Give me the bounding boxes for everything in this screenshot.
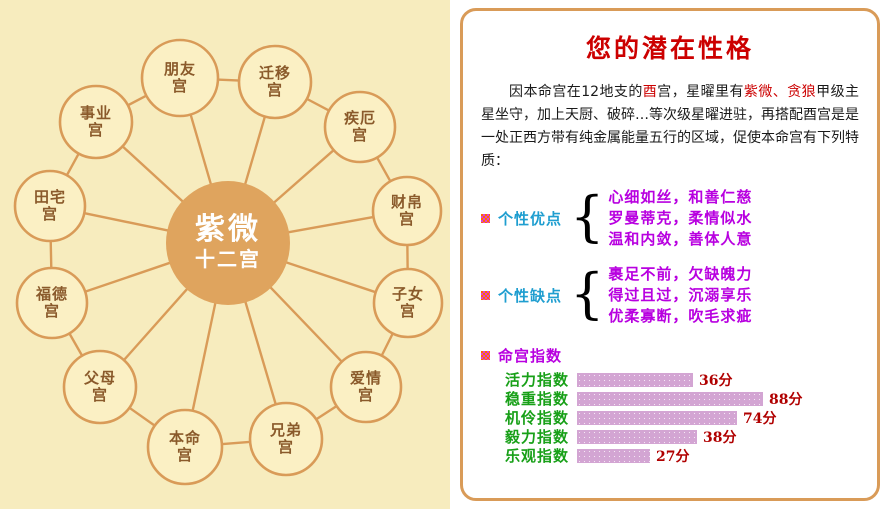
bar-row: 毅力指数38分	[485, 427, 877, 446]
bar-row: 乐观指数27分	[485, 446, 877, 465]
traits-section: 个性优点{心细如丝，和善仁慈罗曼蒂克，柔情似水温和内敛，善体人意个性缺点{裹足不…	[463, 187, 877, 327]
bar-value: 88分	[769, 389, 802, 409]
spoke-line-11	[190, 114, 211, 185]
rim-link-1	[377, 157, 391, 183]
spoke-line-6	[192, 303, 215, 412]
palace-circle-8[interactable]	[17, 268, 87, 338]
spoke-line-1	[274, 149, 335, 202]
bar-value: 36分	[699, 370, 732, 390]
spoke-line-0	[245, 116, 265, 185]
bar-label: 毅力指数	[485, 426, 577, 447]
palace-circle-6[interactable]	[148, 410, 222, 484]
square-bullet-icon	[481, 291, 490, 300]
trait-name-1: 个性缺点	[498, 285, 562, 306]
trait-name-0: 个性优点	[498, 208, 562, 229]
trait-line: 裹足不前，欠缺魄力	[608, 264, 752, 285]
trait-lines-0: 心细如丝，和善仁慈罗曼蒂克，柔情似水温和内敛，善体人意	[608, 187, 752, 250]
bar-row: 活力指数36分	[485, 370, 877, 389]
trait-line: 罗曼蒂克，柔情似水	[608, 208, 752, 229]
bar-row: 稳重指数88分	[485, 389, 877, 408]
square-bullet-icon	[481, 214, 490, 223]
bar-value: 74分	[743, 408, 776, 428]
bar-fill	[577, 373, 693, 387]
intro-part1: 因本命宫在12地支的	[509, 84, 643, 100]
bar-label: 活力指数	[485, 369, 577, 390]
spoke-line-4	[270, 287, 342, 362]
palace-circle-0[interactable]	[239, 46, 311, 118]
bar-value: 38分	[703, 427, 736, 447]
trait-block-1: 个性缺点{裹足不前，欠缺魄力得过且过，沉溺享乐优柔寡断，吹毛求疵	[481, 264, 877, 327]
spoke-line-5	[245, 301, 276, 405]
rim-link-6	[129, 407, 156, 426]
index-bar-chart: 活力指数36分稳重指数88分机伶指数74分毅力指数38分乐观指数27分	[485, 370, 877, 465]
bar-label: 稳重指数	[485, 388, 577, 409]
rim-link-11	[217, 80, 240, 81]
trait-line: 温和内敛，善体人意	[608, 229, 752, 250]
rim-link-8	[51, 240, 52, 269]
bar-fill	[577, 392, 763, 406]
rim-link-3	[381, 333, 393, 357]
index-chart-title: 命宫指数	[498, 345, 562, 366]
bar-fill	[577, 411, 737, 425]
bar-fill	[577, 430, 697, 444]
trait-line: 优柔寡断，吹毛求疵	[608, 306, 752, 327]
palace-circle-4[interactable]	[331, 352, 401, 422]
bar-fill	[577, 449, 650, 463]
palace-circle-5[interactable]	[250, 403, 322, 475]
trait-line: 心细如丝，和善仁慈	[608, 187, 752, 208]
potential-personality-report: 您的潜在性格 因本命宫在12地支的酉宫，星曜里有紫微、贪狼甲级主星坐守，加上天厨…	[460, 8, 880, 501]
rim-link-0	[306, 98, 330, 111]
spoke-line-7	[123, 289, 187, 361]
intro-highlight-branch: 酉	[643, 84, 657, 100]
zi-wei-twelve-palace-wheel: 紫微 十二宫 迁移宫疾厄宫财帛宫子女宫爱情宫兄弟宫本命宫父母宫福德宫田宅宫事业宫…	[0, 0, 450, 509]
palace-circle-3[interactable]	[374, 269, 442, 337]
bar-row: 机伶指数74分	[485, 408, 877, 427]
palace-circle-10[interactable]	[60, 86, 132, 158]
rim-link-10	[127, 95, 147, 106]
spoke-line-10	[122, 146, 183, 202]
trait-line: 得过且过，沉溺享乐	[608, 285, 752, 306]
palace-circle-1[interactable]	[325, 92, 395, 162]
bar-label: 乐观指数	[485, 445, 577, 466]
palace-circle-7[interactable]	[64, 351, 136, 423]
palace-circle-9[interactable]	[15, 171, 85, 241]
intro-highlight-stars: 紫微、贪狼	[744, 84, 816, 100]
trait-block-0: 个性优点{心细如丝，和善仁慈罗曼蒂克，柔情似水温和内敛，善体人意	[481, 187, 877, 250]
report-title: 您的潜在性格	[463, 29, 877, 65]
wheel-graphics	[0, 0, 450, 509]
spoke-line-3	[286, 262, 377, 292]
spoke-line-8	[84, 263, 170, 292]
rim-link-5	[221, 442, 251, 444]
page-root: 紫微 十二宫 迁移宫疾厄宫财帛宫子女宫爱情宫兄弟宫本命宫父母宫福德宫田宅宫事业宫…	[0, 0, 887, 509]
square-bullet-icon	[481, 351, 490, 360]
bar-label: 机伶指数	[485, 407, 577, 428]
report-intro-paragraph: 因本命宫在12地支的酉宫，星曜里有紫微、贪狼甲级主星坐守，加上天厨、破碎…等次级…	[481, 81, 859, 173]
intro-part2: 宫，星曜里有	[657, 84, 744, 100]
palace-circle-11[interactable]	[142, 40, 218, 116]
trait-lines-1: 裹足不前，欠缺魄力得过且过，沉溺享乐优柔寡断，吹毛求疵	[608, 264, 752, 327]
spoke-line-9	[83, 213, 168, 231]
rim-link-4	[315, 406, 337, 420]
bar-value: 27分	[656, 446, 689, 466]
palace-circle-2[interactable]	[373, 177, 441, 245]
spoke-line-2	[288, 217, 374, 232]
index-chart-heading: 命宫指数	[481, 345, 877, 366]
hub-circle	[166, 181, 290, 305]
rim-link-7	[69, 333, 83, 357]
rim-link-9	[66, 153, 79, 176]
